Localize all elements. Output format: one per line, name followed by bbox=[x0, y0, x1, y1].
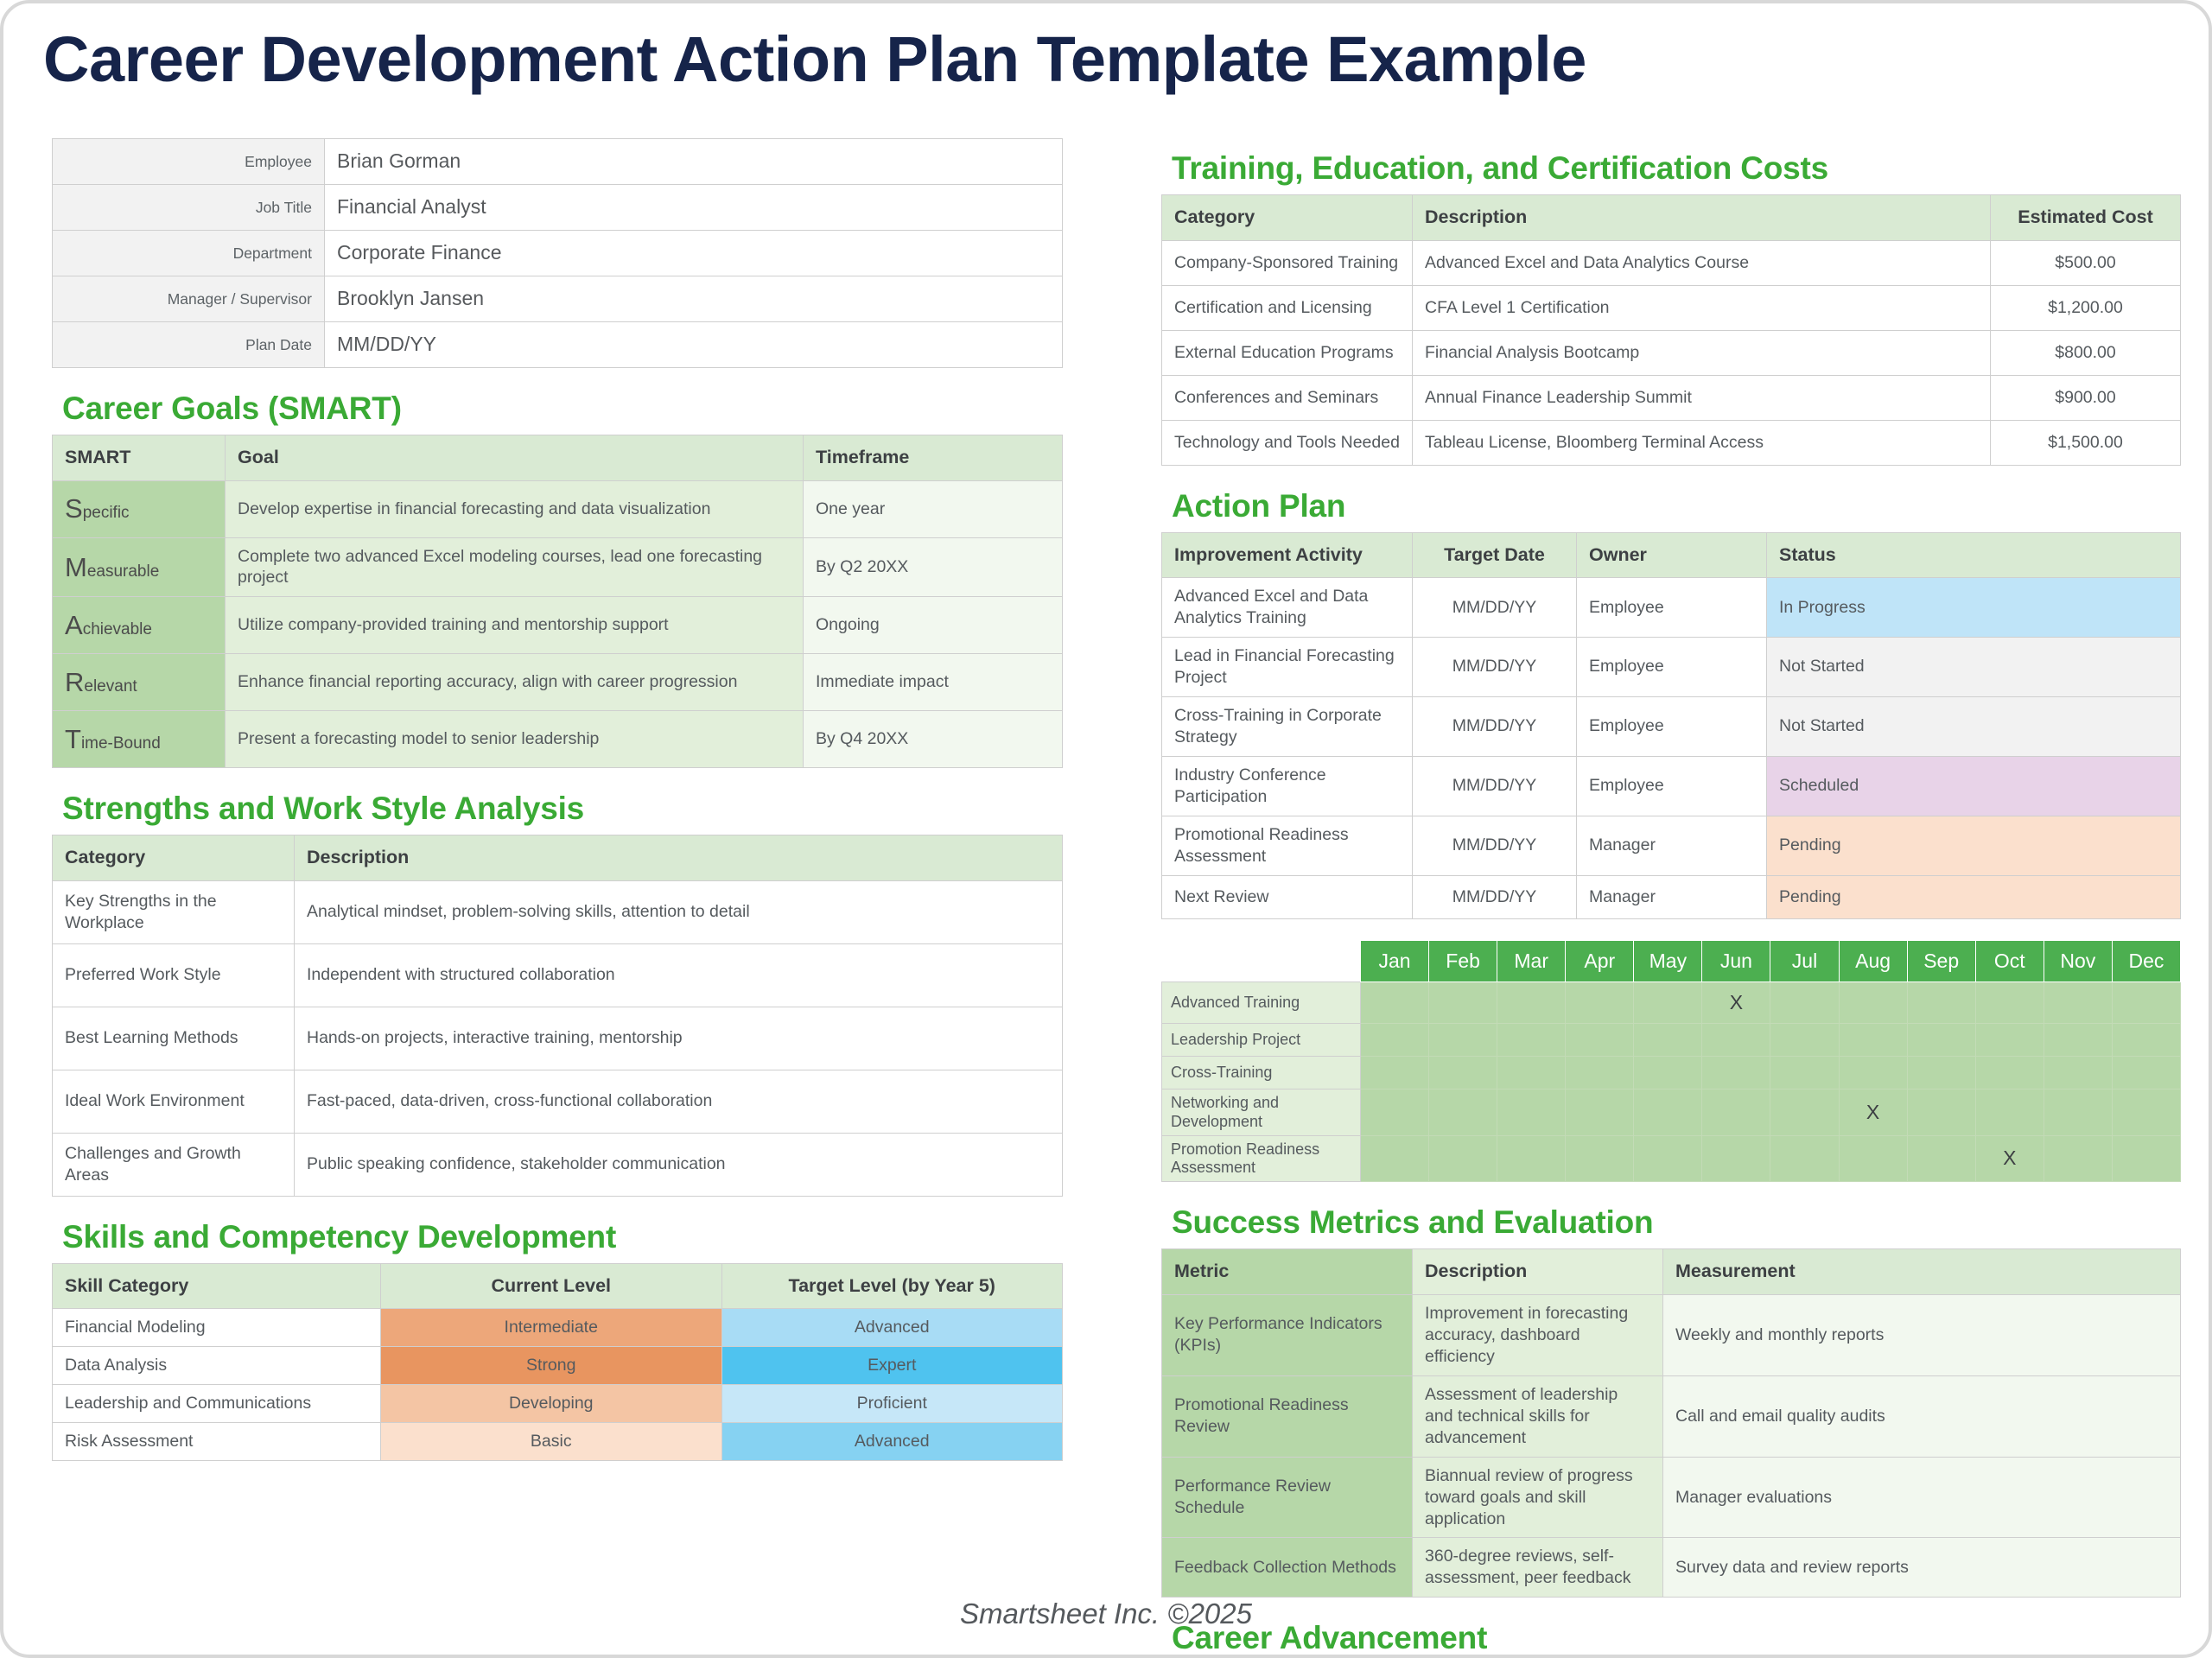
action-plan-row: Advanced Excel and Data Analytics Traini… bbox=[1162, 578, 2181, 638]
gantt-cell-jul bbox=[1770, 1057, 1839, 1089]
employee-info-value: MM/DD/YY bbox=[325, 322, 1063, 368]
gantt-row-label: Promotion Readiness Assessment bbox=[1162, 1135, 1361, 1181]
training-costs-heading: Training, Education, and Certification C… bbox=[1172, 150, 2181, 187]
employee-info-row: EmployeeBrian Gorman bbox=[53, 139, 1063, 185]
action-owner: Employee bbox=[1577, 756, 1767, 816]
gantt-cell-jan bbox=[1361, 1057, 1429, 1089]
col-description: Description bbox=[295, 835, 1063, 881]
gantt-cell-mar bbox=[1497, 1024, 1566, 1057]
smart-letter-rest: ime-Bound bbox=[81, 734, 161, 753]
strengths-row: Challenges and Growth AreasPublic speaki… bbox=[53, 1133, 1063, 1196]
employee-info-value: Brooklyn Jansen bbox=[325, 276, 1063, 322]
gantt-corner bbox=[1162, 940, 1361, 981]
action-target-date: MM/DD/YY bbox=[1413, 637, 1577, 696]
right-column: Training, Education, and Certification C… bbox=[1161, 133, 2181, 1658]
col-current-level: Current Level bbox=[381, 1263, 722, 1309]
gantt-cell-may bbox=[1634, 1057, 1702, 1089]
strengths-description: Analytical mindset, problem-solving skil… bbox=[295, 880, 1063, 943]
smart-goal-row: SpecificDevelop expertise in financial f… bbox=[53, 480, 1063, 537]
gantt-month-sep: Sep bbox=[1907, 940, 1975, 981]
career-goals-table: SMART Goal Timeframe SpecificDevelop exp… bbox=[52, 435, 1063, 768]
employee-info-value: Brian Gorman bbox=[325, 139, 1063, 185]
employee-info-table: EmployeeBrian GormanJob TitleFinancial A… bbox=[52, 138, 1063, 368]
gantt-cell-dec bbox=[2112, 982, 2180, 1024]
gantt-cell-oct bbox=[1975, 1089, 2044, 1135]
action-owner: Employee bbox=[1577, 696, 1767, 756]
gantt-cell-apr bbox=[1566, 1024, 1634, 1057]
gantt-cell-jul bbox=[1770, 1024, 1839, 1057]
col-skill-category: Skill Category bbox=[53, 1263, 381, 1309]
col-estimated-cost: Estimated Cost bbox=[1991, 195, 2181, 241]
action-activity: Cross-Training in Corporate Strategy bbox=[1162, 696, 1413, 756]
training-cost-row: Technology and Tools NeededTableau Licen… bbox=[1162, 420, 2181, 465]
employee-info-row: Job TitleFinancial Analyst bbox=[53, 185, 1063, 231]
gantt-cell-dec bbox=[2112, 1024, 2180, 1057]
gantt-cell-aug bbox=[1839, 1135, 1907, 1181]
gantt-row: Cross-Training bbox=[1162, 1057, 2181, 1089]
training-category: Certification and Licensing bbox=[1162, 285, 1413, 330]
skill-target-level: Proficient bbox=[721, 1385, 1063, 1423]
skills-row: Leadership and CommunicationsDevelopingP… bbox=[53, 1385, 1063, 1423]
gantt-cell-oct bbox=[1975, 1057, 2044, 1089]
training-description: Financial Analysis Bootcamp bbox=[1413, 330, 1991, 375]
training-description: Tableau License, Bloomberg Terminal Acce… bbox=[1413, 420, 1991, 465]
col-category: Category bbox=[1162, 195, 1413, 241]
metric-name: Feedback Collection Methods bbox=[1162, 1538, 1413, 1598]
action-plan-heading: Action Plan bbox=[1172, 488, 2181, 524]
gantt-month-jul: Jul bbox=[1770, 940, 1839, 981]
metric-name: Performance Review Schedule bbox=[1162, 1457, 1413, 1538]
skill-category: Leadership and Communications bbox=[53, 1385, 381, 1423]
skills-row: Data AnalysisStrongExpert bbox=[53, 1347, 1063, 1385]
gantt-cell-apr bbox=[1566, 982, 1634, 1024]
gantt-cell-dec bbox=[2112, 1057, 2180, 1089]
action-target-date: MM/DD/YY bbox=[1413, 756, 1577, 816]
col-status: Status bbox=[1767, 532, 2181, 578]
gantt-cell-may bbox=[1634, 1024, 1702, 1057]
skill-target-level: Advanced bbox=[721, 1309, 1063, 1347]
gantt-month-feb: Feb bbox=[1429, 940, 1497, 981]
training-estimated-cost: $1,500.00 bbox=[1991, 420, 2181, 465]
action-activity: Industry Conference Participation bbox=[1162, 756, 1413, 816]
gantt-cell-may bbox=[1634, 982, 1702, 1024]
gantt-month-may: May bbox=[1634, 940, 1702, 981]
training-category: External Education Programs bbox=[1162, 330, 1413, 375]
gantt-month-mar: Mar bbox=[1497, 940, 1566, 981]
strengths-description: Hands-on projects, interactive training,… bbox=[295, 1007, 1063, 1070]
strengths-row: Ideal Work EnvironmentFast-paced, data-d… bbox=[53, 1070, 1063, 1133]
gantt-cell-sep bbox=[1907, 982, 1975, 1024]
gantt-row: Networking and DevelopmentX bbox=[1162, 1089, 2181, 1135]
action-plan-row: Next ReviewMM/DD/YYManagerPending bbox=[1162, 875, 2181, 918]
skill-category: Financial Modeling bbox=[53, 1309, 381, 1347]
strengths-row: Best Learning MethodsHands-on projects, … bbox=[53, 1007, 1063, 1070]
gantt-cell-aug: X bbox=[1839, 1089, 1907, 1135]
col-target-date: Target Date bbox=[1413, 532, 1577, 578]
gantt-cell-dec bbox=[2112, 1135, 2180, 1181]
strengths-row: Key Strengths in the WorkplaceAnalytical… bbox=[53, 880, 1063, 943]
strengths-description: Fast-paced, data-driven, cross-functiona… bbox=[295, 1070, 1063, 1133]
smart-goal-text: Utilize company-provided training and me… bbox=[226, 597, 804, 654]
success-metrics-heading: Success Metrics and Evaluation bbox=[1172, 1204, 2181, 1241]
col-description: Description bbox=[1413, 1249, 1663, 1295]
gantt-cell-jun bbox=[1702, 1057, 1770, 1089]
gantt-cell-feb bbox=[1429, 1024, 1497, 1057]
smart-timeframe: By Q2 20XX bbox=[804, 537, 1063, 597]
gantt-cell-apr bbox=[1566, 1135, 1634, 1181]
action-status-badge: Pending bbox=[1767, 816, 2181, 875]
metric-description: Assessment of leadership and technical s… bbox=[1413, 1375, 1663, 1457]
action-status-badge: Not Started bbox=[1767, 696, 2181, 756]
gantt-cell-jul bbox=[1770, 1089, 1839, 1135]
action-activity: Advanced Excel and Data Analytics Traini… bbox=[1162, 578, 1413, 638]
left-column: EmployeeBrian GormanJob TitleFinancial A… bbox=[52, 138, 1063, 1461]
skill-current-level: Strong bbox=[381, 1347, 722, 1385]
skill-category: Risk Assessment bbox=[53, 1423, 381, 1461]
gantt-cell-feb bbox=[1429, 1089, 1497, 1135]
gantt-cell-oct: X bbox=[1975, 1135, 2044, 1181]
action-status-badge: Scheduled bbox=[1767, 756, 2181, 816]
footer-copyright: Smartsheet Inc. ©2025 bbox=[3, 1598, 2209, 1630]
gantt-cell-may bbox=[1634, 1089, 1702, 1135]
gantt-cell-nov bbox=[2044, 1024, 2112, 1057]
col-target-level: Target Level (by Year 5) bbox=[721, 1263, 1063, 1309]
smart-goal-row: RelevantEnhance financial reporting accu… bbox=[53, 654, 1063, 711]
employee-info-label: Plan Date bbox=[53, 322, 325, 368]
action-owner: Manager bbox=[1577, 875, 1767, 918]
smart-letter: Measurable bbox=[53, 537, 226, 597]
employee-info-label: Employee bbox=[53, 139, 325, 185]
col-improvement-activity: Improvement Activity bbox=[1162, 532, 1413, 578]
smart-letter-rest: pecific bbox=[83, 504, 130, 522]
gantt-cell-oct bbox=[1975, 982, 2044, 1024]
metric-description: Biannual review of progress toward goals… bbox=[1413, 1457, 1663, 1538]
smart-goal-text: Complete two advanced Excel modeling cou… bbox=[226, 537, 804, 597]
gantt-cell-jan bbox=[1361, 982, 1429, 1024]
action-status-badge: In Progress bbox=[1767, 578, 2181, 638]
metric-measurement: Call and email quality audits bbox=[1663, 1375, 2181, 1457]
training-costs-table: Category Description Estimated Cost Comp… bbox=[1161, 194, 2181, 466]
gantt-month-oct: Oct bbox=[1975, 940, 2044, 981]
strengths-category: Ideal Work Environment bbox=[53, 1070, 295, 1133]
gantt-cell-jan bbox=[1361, 1089, 1429, 1135]
strengths-category: Preferred Work Style bbox=[53, 943, 295, 1007]
metric-name: Key Performance Indicators (KPIs) bbox=[1162, 1294, 1413, 1375]
smart-timeframe: By Q4 20XX bbox=[804, 711, 1063, 768]
employee-info-row: Plan DateMM/DD/YY bbox=[53, 322, 1063, 368]
gantt-cell-sep bbox=[1907, 1135, 1975, 1181]
action-activity: Promotional Readiness Assessment bbox=[1162, 816, 1413, 875]
skill-current-level: Intermediate bbox=[381, 1309, 722, 1347]
gantt-cell-nov bbox=[2044, 982, 2112, 1024]
action-target-date: MM/DD/YY bbox=[1413, 696, 1577, 756]
gantt-cell-dec bbox=[2112, 1089, 2180, 1135]
training-category: Conferences and Seminars bbox=[1162, 375, 1413, 420]
training-category: Technology and Tools Needed bbox=[1162, 420, 1413, 465]
gantt-cell-jun bbox=[1702, 1089, 1770, 1135]
gantt-cell-aug bbox=[1839, 1057, 1907, 1089]
skill-target-level: Expert bbox=[721, 1347, 1063, 1385]
smart-timeframe: Immediate impact bbox=[804, 654, 1063, 711]
employee-info-row: Manager / SupervisorBrooklyn Jansen bbox=[53, 276, 1063, 322]
page-title: Career Development Action Plan Template … bbox=[43, 22, 1586, 96]
strengths-heading: Strengths and Work Style Analysis bbox=[62, 791, 1063, 827]
gantt-cell-aug bbox=[1839, 1024, 1907, 1057]
action-activity: Next Review bbox=[1162, 875, 1413, 918]
gantt-row-label: Cross-Training bbox=[1162, 1057, 1361, 1089]
skills-row: Financial ModelingIntermediateAdvanced bbox=[53, 1309, 1063, 1347]
gantt-month-jun: Jun bbox=[1702, 940, 1770, 981]
success-metric-row: Key Performance Indicators (KPIs)Improve… bbox=[1162, 1294, 2181, 1375]
gantt-cell-feb bbox=[1429, 1135, 1497, 1181]
action-owner: Manager bbox=[1577, 816, 1767, 875]
metric-measurement: Manager evaluations bbox=[1663, 1457, 2181, 1538]
action-owner: Employee bbox=[1577, 637, 1767, 696]
employee-info-label: Manager / Supervisor bbox=[53, 276, 325, 322]
skills-table: Skill Category Current Level Target Leve… bbox=[52, 1263, 1063, 1462]
smart-letter-initial: A bbox=[65, 610, 83, 640]
training-estimated-cost: $900.00 bbox=[1991, 375, 2181, 420]
strengths-row: Preferred Work StyleIndependent with str… bbox=[53, 943, 1063, 1007]
gantt-month-aug: Aug bbox=[1839, 940, 1907, 981]
gantt-row-label: Leadership Project bbox=[1162, 1024, 1361, 1057]
smart-letter-rest: elevant bbox=[84, 677, 137, 696]
employee-info-label: Job Title bbox=[53, 185, 325, 231]
gantt-row-label: Advanced Training bbox=[1162, 982, 1361, 1024]
employee-info-value: Financial Analyst bbox=[325, 185, 1063, 231]
col-metric: Metric bbox=[1162, 1249, 1413, 1295]
smart-goal-text: Develop expertise in financial forecasti… bbox=[226, 480, 804, 537]
gantt-row: Advanced TrainingX bbox=[1162, 982, 2181, 1024]
gantt-cell-jul bbox=[1770, 1135, 1839, 1181]
employee-info-value: Corporate Finance bbox=[325, 231, 1063, 276]
smart-letter: Relevant bbox=[53, 654, 226, 711]
col-measurement: Measurement bbox=[1663, 1249, 2181, 1295]
gantt-month-nov: Nov bbox=[2044, 940, 2112, 981]
training-description: CFA Level 1 Certification bbox=[1413, 285, 1991, 330]
col-category: Category bbox=[53, 835, 295, 881]
smart-goal-row: Time-BoundPresent a forecasting model to… bbox=[53, 711, 1063, 768]
metric-measurement: Survey data and review reports bbox=[1663, 1538, 2181, 1598]
gantt-cell-sep bbox=[1907, 1057, 1975, 1089]
action-status-badge: Not Started bbox=[1767, 637, 2181, 696]
gantt-cell-nov bbox=[2044, 1057, 2112, 1089]
gantt-cell-feb bbox=[1429, 1057, 1497, 1089]
gantt-cell-mar bbox=[1497, 1057, 1566, 1089]
smart-letter-rest: chievable bbox=[83, 620, 152, 638]
action-plan-table: Improvement Activity Target Date Owner S… bbox=[1161, 532, 2181, 919]
action-plan-row: Industry Conference ParticipationMM/DD/Y… bbox=[1162, 756, 2181, 816]
gantt-row: Leadership Project bbox=[1162, 1024, 2181, 1057]
training-cost-row: External Education ProgramsFinancial Ana… bbox=[1162, 330, 2181, 375]
gantt-cell-mar bbox=[1497, 1135, 1566, 1181]
smart-goal-text: Enhance financial reporting accuracy, al… bbox=[226, 654, 804, 711]
smart-letter-rest: easurable bbox=[87, 562, 159, 581]
success-metrics-table: Metric Description Measurement Key Perfo… bbox=[1161, 1248, 2181, 1598]
gantt-cell-jun bbox=[1702, 1135, 1770, 1181]
smart-letter-initial: T bbox=[65, 724, 81, 754]
action-plan-row: Lead in Financial Forecasting ProjectMM/… bbox=[1162, 637, 2181, 696]
gantt-cell-oct bbox=[1975, 1024, 2044, 1057]
success-metric-row: Performance Review ScheduleBiannual revi… bbox=[1162, 1457, 2181, 1538]
strengths-description: Public speaking confidence, stakeholder … bbox=[295, 1133, 1063, 1196]
smart-letter: Time-Bound bbox=[53, 711, 226, 768]
training-description: Advanced Excel and Data Analytics Course bbox=[1413, 240, 1991, 285]
gantt-cell-apr bbox=[1566, 1057, 1634, 1089]
training-estimated-cost: $1,200.00 bbox=[1991, 285, 2181, 330]
strengths-category: Best Learning Methods bbox=[53, 1007, 295, 1070]
action-owner: Employee bbox=[1577, 578, 1767, 638]
smart-goal-text: Present a forecasting model to senior le… bbox=[226, 711, 804, 768]
gantt-cell-jan bbox=[1361, 1135, 1429, 1181]
training-cost-row: Company-Sponsored TrainingAdvanced Excel… bbox=[1162, 240, 2181, 285]
skill-current-level: Basic bbox=[381, 1423, 722, 1461]
strengths-description: Independent with structured collaboratio… bbox=[295, 943, 1063, 1007]
smart-goal-row: MeasurableComplete two advanced Excel mo… bbox=[53, 537, 1063, 597]
col-smart: SMART bbox=[53, 435, 226, 481]
skill-category: Data Analysis bbox=[53, 1347, 381, 1385]
employee-info-label: Department bbox=[53, 231, 325, 276]
smart-letter: Specific bbox=[53, 480, 226, 537]
col-owner: Owner bbox=[1577, 532, 1767, 578]
strengths-table: Category Description Key Strengths in th… bbox=[52, 835, 1063, 1197]
smart-letter-initial: S bbox=[65, 493, 83, 524]
gantt-row: Promotion Readiness AssessmentX bbox=[1162, 1135, 2181, 1181]
action-target-date: MM/DD/YY bbox=[1413, 578, 1577, 638]
skills-heading: Skills and Competency Development bbox=[62, 1219, 1063, 1255]
smart-goal-row: AchievableUtilize company-provided train… bbox=[53, 597, 1063, 654]
training-description: Annual Finance Leadership Summit bbox=[1413, 375, 1991, 420]
gantt-month-jan: Jan bbox=[1361, 940, 1429, 981]
smart-timeframe: Ongoing bbox=[804, 597, 1063, 654]
career-goals-heading: Career Goals (SMART) bbox=[62, 391, 1063, 427]
gantt-cell-nov bbox=[2044, 1089, 2112, 1135]
gantt-row-label: Networking and Development bbox=[1162, 1089, 1361, 1135]
skill-target-level: Advanced bbox=[721, 1423, 1063, 1461]
gantt-cell-apr bbox=[1566, 1089, 1634, 1135]
gantt-cell-nov bbox=[2044, 1135, 2112, 1181]
smart-letter: Achievable bbox=[53, 597, 226, 654]
action-target-date: MM/DD/YY bbox=[1413, 875, 1577, 918]
metric-name: Promotional Readiness Review bbox=[1162, 1375, 1413, 1457]
gantt-cell-sep bbox=[1907, 1089, 1975, 1135]
smart-letter-initial: R bbox=[65, 667, 84, 697]
gantt-cell-may bbox=[1634, 1135, 1702, 1181]
action-activity: Lead in Financial Forecasting Project bbox=[1162, 637, 1413, 696]
gantt-cell-aug bbox=[1839, 982, 1907, 1024]
action-status-badge: Pending bbox=[1767, 875, 2181, 918]
gantt-month-apr: Apr bbox=[1566, 940, 1634, 981]
timeline-gantt-table: JanFebMarAprMayJunJulAugSepOctNovDec Adv… bbox=[1161, 940, 2181, 1183]
training-cost-row: Conferences and SeminarsAnnual Finance L… bbox=[1162, 375, 2181, 420]
skill-current-level: Developing bbox=[381, 1385, 722, 1423]
col-timeframe: Timeframe bbox=[804, 435, 1063, 481]
success-metric-row: Promotional Readiness ReviewAssessment o… bbox=[1162, 1375, 2181, 1457]
strengths-category: Key Strengths in the Workplace bbox=[53, 880, 295, 943]
gantt-cell-jan bbox=[1361, 1024, 1429, 1057]
metric-description: Improvement in forecasting accuracy, das… bbox=[1413, 1294, 1663, 1375]
gantt-cell-sep bbox=[1907, 1024, 1975, 1057]
document-page: Career Development Action Plan Template … bbox=[0, 0, 2212, 1658]
gantt-month-dec: Dec bbox=[2112, 940, 2180, 981]
training-estimated-cost: $500.00 bbox=[1991, 240, 2181, 285]
skills-row: Risk AssessmentBasicAdvanced bbox=[53, 1423, 1063, 1461]
success-metric-row: Feedback Collection Methods360-degree re… bbox=[1162, 1538, 2181, 1598]
gantt-cell-mar bbox=[1497, 1089, 1566, 1135]
employee-info-row: DepartmentCorporate Finance bbox=[53, 231, 1063, 276]
action-plan-row: Promotional Readiness AssessmentMM/DD/YY… bbox=[1162, 816, 2181, 875]
col-description: Description bbox=[1413, 195, 1991, 241]
strengths-category: Challenges and Growth Areas bbox=[53, 1133, 295, 1196]
gantt-cell-jun bbox=[1702, 1024, 1770, 1057]
metric-measurement: Weekly and monthly reports bbox=[1663, 1294, 2181, 1375]
training-category: Company-Sponsored Training bbox=[1162, 240, 1413, 285]
gantt-cell-jun: X bbox=[1702, 982, 1770, 1024]
action-plan-row: Cross-Training in Corporate StrategyMM/D… bbox=[1162, 696, 2181, 756]
training-estimated-cost: $800.00 bbox=[1991, 330, 2181, 375]
col-goal: Goal bbox=[226, 435, 804, 481]
metric-description: 360-degree reviews, self-assessment, pee… bbox=[1413, 1538, 1663, 1598]
gantt-cell-mar bbox=[1497, 982, 1566, 1024]
smart-timeframe: One year bbox=[804, 480, 1063, 537]
smart-letter-initial: M bbox=[65, 552, 87, 582]
gantt-cell-jul bbox=[1770, 982, 1839, 1024]
action-target-date: MM/DD/YY bbox=[1413, 816, 1577, 875]
gantt-cell-feb bbox=[1429, 982, 1497, 1024]
training-cost-row: Certification and LicensingCFA Level 1 C… bbox=[1162, 285, 2181, 330]
